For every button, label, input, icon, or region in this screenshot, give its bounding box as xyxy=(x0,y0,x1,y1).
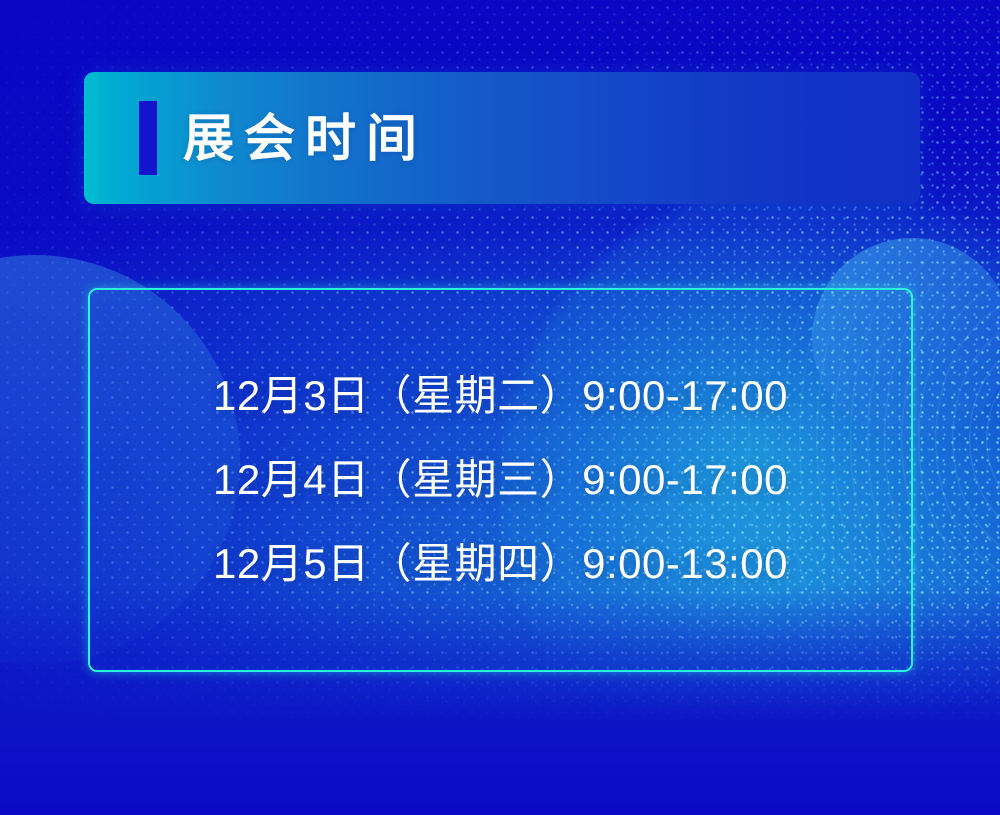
schedule-list-item: 12月4日（星期三）9:00-17:00 xyxy=(213,459,788,501)
exhibition-schedule-poster: 展会时间 12月3日（星期二）9:00-17:00 12月4日（星期三）9:00… xyxy=(0,0,1000,815)
page-title: 展会时间 xyxy=(183,113,427,164)
schedule-list: 12月3日（星期二）9:00-17:00 12月4日（星期三）9:00-17:0… xyxy=(213,375,788,585)
schedule-list-item: 12月3日（星期二）9:00-17:00 xyxy=(213,375,788,417)
section-header-banner: 展会时间 xyxy=(84,72,920,204)
accent-bar-icon xyxy=(139,101,157,175)
schedule-frame: 12月3日（星期二）9:00-17:00 12月4日（星期三）9:00-17:0… xyxy=(88,288,913,672)
schedule-list-item: 12月5日（星期四）9:00-13:00 xyxy=(213,543,788,585)
